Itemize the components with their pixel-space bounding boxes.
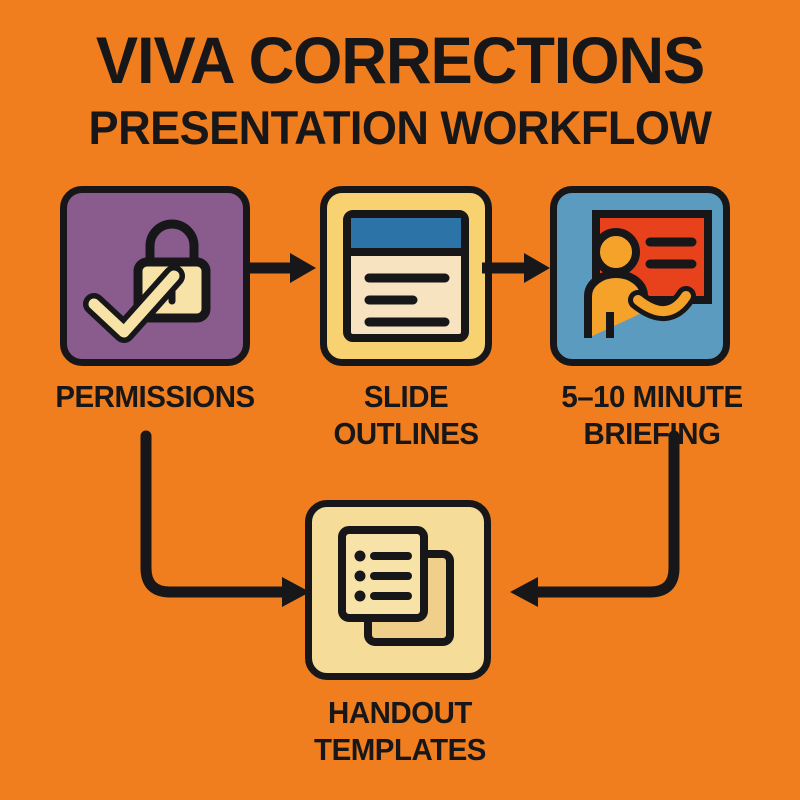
step-label-slide-outlines-line2: OUTLINES — [305, 415, 506, 452]
step-label-permissions-line1: PERMISSIONS — [17, 378, 293, 415]
lock-check-icon — [80, 206, 230, 346]
step-tile-handout-templates[interactable] — [305, 500, 491, 680]
step-label-permissions: PERMISSIONS — [17, 378, 293, 415]
step-label-slide-outlines-line1: SLIDE — [305, 378, 506, 415]
elbow-arrow-down-left-icon-briefing-to-handout — [500, 436, 680, 616]
stacked-documents-icon — [328, 520, 468, 660]
step-label-handout-templates: HANDOUT TEMPLATES — [258, 694, 543, 768]
presenter-whiteboard-icon — [568, 208, 712, 344]
arrow-right-icon-slides-to-briefing — [482, 248, 554, 288]
step-tile-briefing[interactable] — [550, 186, 730, 366]
step-label-slide-outlines: SLIDE OUTLINES — [305, 378, 506, 452]
step-label-handout-templates-line2: TEMPLATES — [258, 731, 543, 768]
step-tile-permissions[interactable] — [60, 186, 250, 366]
infographic-poster: VIVA CORRECTIONS PRESENTATION WORKFLOW — [0, 0, 800, 800]
step-label-handout-templates-line1: HANDOUT — [258, 694, 543, 731]
step-label-briefing-line1: 5–10 MINUTE — [523, 378, 781, 415]
title-block: VIVA CORRECTIONS PRESENTATION WORKFLOW — [0, 24, 800, 156]
poster-title: VIVA CORRECTIONS — [16, 24, 784, 96]
slide-document-icon — [341, 208, 471, 344]
arrow-right-icon-permissions-to-slides — [248, 248, 320, 288]
poster-subtitle: PRESENTATION WORKFLOW — [16, 100, 784, 156]
elbow-arrow-down-right-icon-permissions-to-handout — [140, 436, 320, 616]
step-tile-slide-outlines[interactable] — [320, 186, 492, 366]
